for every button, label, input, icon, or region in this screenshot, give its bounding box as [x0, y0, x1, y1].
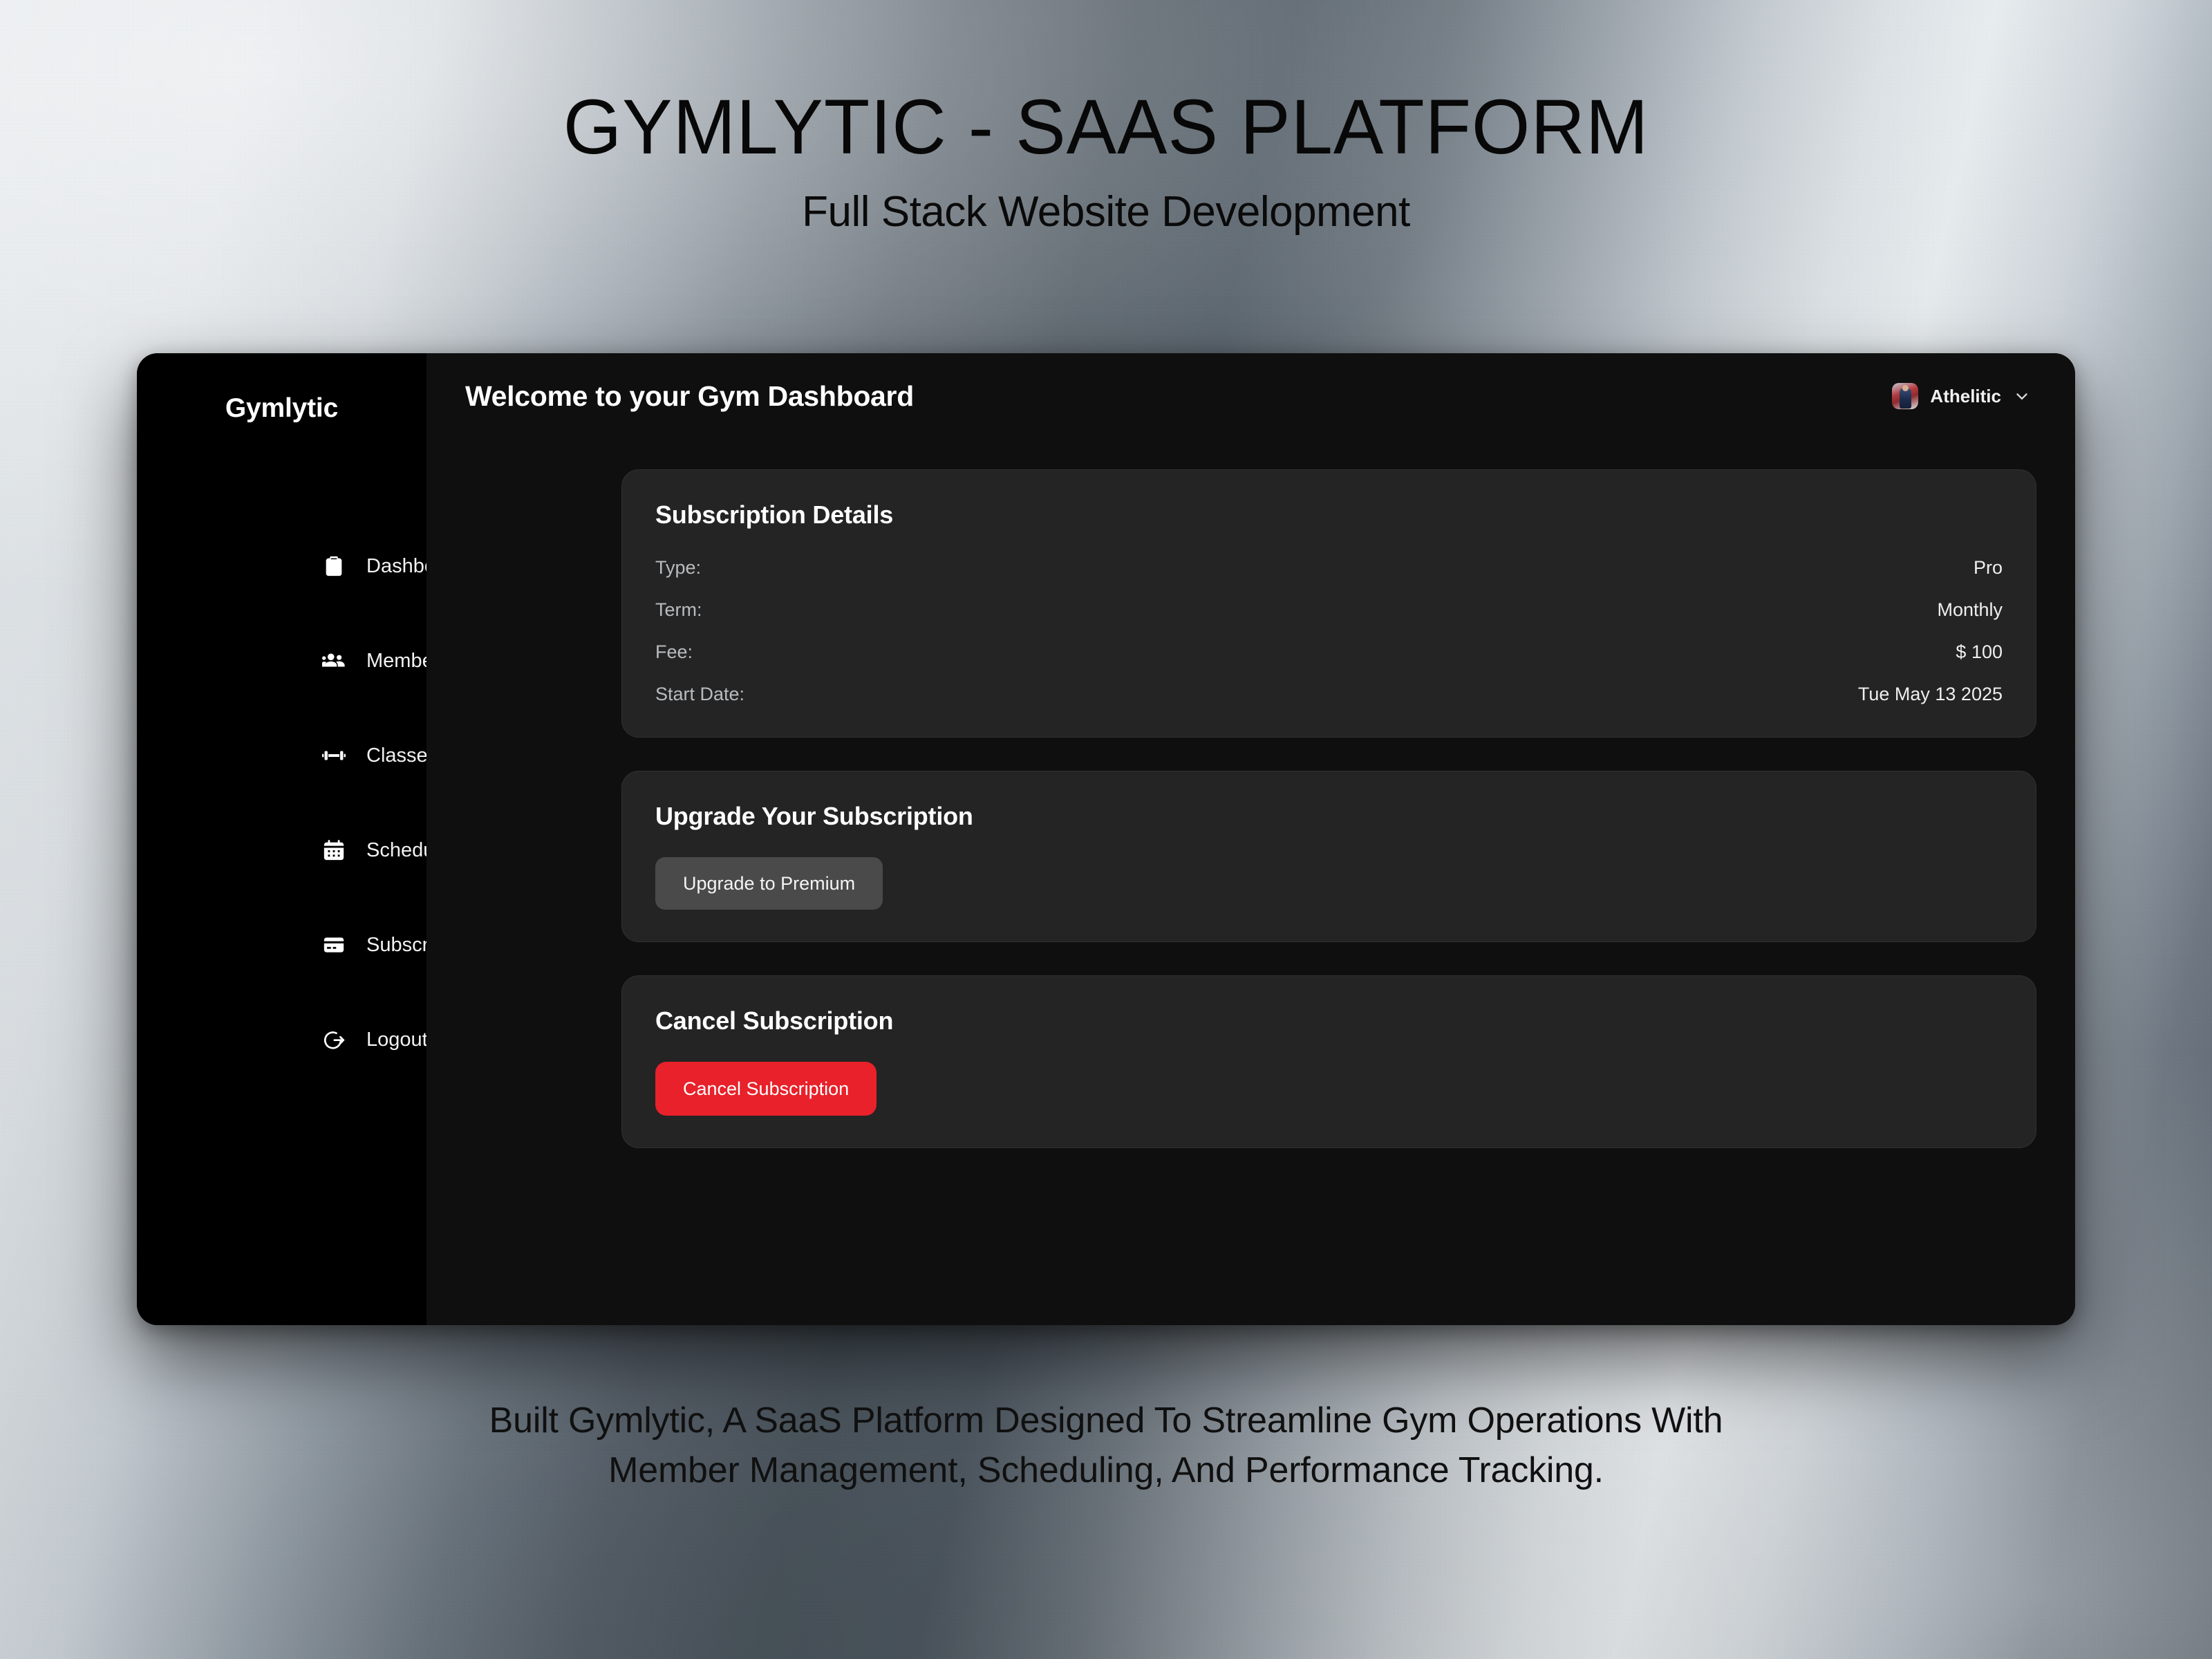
row-label: Fee:: [655, 641, 693, 663]
page-title-main: GYMLYTIC - SAAS PLATFORM: [33, 88, 2179, 166]
clipboard-list-icon: [322, 554, 346, 578]
sidebar-item-label: Logout: [366, 1029, 428, 1051]
subscription-details-card: Subscription Details Type: Pro Term: Mon…: [621, 469, 2036, 738]
card-title: Upgrade Your Subscription: [655, 802, 2003, 831]
topbar: Welcome to your Gym Dashboard Athelitic: [427, 353, 2075, 439]
card-title: Cancel Subscription: [655, 1006, 2003, 1035]
sidebar-item-schedule[interactable]: Schedule: [137, 827, 427, 874]
table-row: Start Date: Tue May 13 2025: [655, 684, 2003, 705]
user-name-label: Athelitic: [1930, 386, 2001, 407]
subscription-rows: Type: Pro Term: Monthly Fee: $ 100 Start…: [655, 557, 2003, 705]
sidebar: Gymlytic Dashboard: [137, 353, 427, 1325]
row-value: Monthly: [1937, 599, 2003, 621]
upgrade-subscription-card: Upgrade Your Subscription Upgrade to Pre…: [621, 771, 2036, 942]
sidebar-item-members[interactable]: Members: [137, 637, 427, 684]
row-value: Tue May 13 2025: [1858, 684, 2003, 705]
sidebar-nav: Dashboard Members: [137, 543, 427, 1063]
credit-card-icon: [322, 933, 346, 957]
user-menu[interactable]: Athelitic: [1892, 383, 2031, 409]
chevron-down-icon[interactable]: [2013, 387, 2031, 405]
sidebar-item-subscription[interactable]: Subscription: [137, 921, 427, 968]
row-label: Start Date:: [655, 684, 744, 705]
page-title-sub: Full Stack Website Development: [0, 191, 2212, 234]
row-label: Type:: [655, 557, 701, 579]
page-heading: Welcome to your Gym Dashboard: [465, 380, 914, 413]
sidebar-item-dashboard[interactable]: Dashboard: [137, 543, 427, 590]
brand-logo: Gymlytic: [137, 384, 427, 424]
sidebar-item-classes[interactable]: Classes: [137, 732, 427, 779]
dumbbell-icon: [322, 744, 346, 767]
calendar-icon: [322, 838, 346, 862]
upgrade-to-premium-button[interactable]: Upgrade to Premium: [655, 857, 883, 910]
app-window-mockup: Gymlytic Dashboard: [137, 353, 2075, 1325]
project-caption: Built Gymlytic, A SaaS Platform Designed…: [0, 1396, 2212, 1496]
card-title: Subscription Details: [655, 500, 2003, 529]
main-content: Welcome to your Gym Dashboard Athelitic …: [427, 353, 2075, 1325]
row-value: Pro: [1974, 557, 2003, 579]
sidebar-item-logout[interactable]: Logout: [137, 1016, 427, 1063]
avatar: [1892, 383, 1918, 409]
cancel-subscription-button[interactable]: Cancel Subscription: [655, 1062, 877, 1116]
table-row: Fee: $ 100: [655, 641, 2003, 663]
logout-icon: [322, 1028, 346, 1051]
page-header: GYMLYTIC - SAAS PLATFORM Full Stack Webs…: [0, 0, 2212, 234]
caption-line-2: Member Management, Scheduling, And Perfo…: [0, 1446, 2212, 1496]
caption-line-1: Built Gymlytic, A SaaS Platform Designed…: [0, 1396, 2212, 1446]
table-row: Term: Monthly: [655, 599, 2003, 621]
row-label: Term:: [655, 599, 702, 621]
table-row: Type: Pro: [655, 557, 2003, 579]
users-icon: [322, 649, 346, 673]
cards-column: Subscription Details Type: Pro Term: Mon…: [427, 439, 2075, 1148]
row-value: $ 100: [1956, 641, 2003, 663]
cancel-subscription-card: Cancel Subscription Cancel Subscription: [621, 975, 2036, 1148]
